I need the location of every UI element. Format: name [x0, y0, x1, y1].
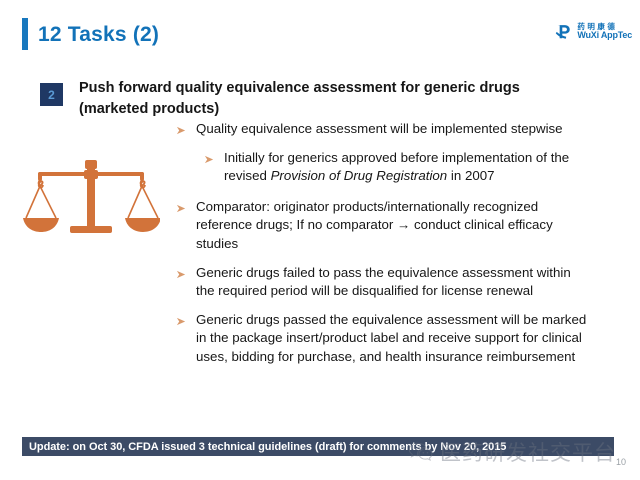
wuxi-apptec-logo: 药明康德 WuXi AppTec: [555, 22, 632, 41]
list-item: Generic drugs failed to pass the equival…: [176, 264, 592, 301]
arrow-bullet-icon: [204, 154, 217, 165]
list-item-label: Comparator: originator products/internat…: [196, 198, 592, 254]
page-title: 12 Tasks (2): [22, 18, 159, 50]
arrow-bullet-icon: [176, 269, 189, 280]
title-accent-bar: [22, 18, 28, 50]
list-item-label: Quality equivalence assessment will be i…: [196, 120, 563, 139]
bullet-list: Quality equivalence assessment will be i…: [176, 120, 592, 367]
list-item: Generic drugs passed the equivalence ass…: [176, 311, 592, 367]
list-item-label: Generic drugs failed to pass the equival…: [196, 264, 592, 301]
arrow-bullet-icon: [176, 316, 189, 327]
arrow-bullet-icon: [176, 125, 189, 136]
balance-scale-image: [22, 152, 160, 244]
title-label: 12 Tasks (2): [38, 24, 159, 45]
update-banner: Update: on Oct 30, CFDA issued 3 technic…: [22, 437, 614, 456]
update-banner-label: Update: on Oct 30, CFDA issued 3 technic…: [22, 441, 506, 453]
page-number: 10: [616, 457, 626, 467]
list-item: Initially for generics approved before i…: [204, 149, 592, 186]
sub-bullet-text-italic: Provision of Drug Registration: [271, 168, 448, 183]
sub-bullet-text-after: in 2007: [447, 168, 494, 183]
list-item: Comparator: originator products/internat…: [176, 198, 592, 254]
wuxi-logo-text: 药明康德 WuXi AppTec: [577, 23, 632, 41]
wuxi-logo-mark-icon: [555, 22, 574, 41]
list-item-label: Generic drugs passed the equivalence ass…: [196, 311, 592, 367]
subheading-label: Push forward quality equivalence assessm…: [79, 78, 557, 119]
wuxi-logo-english: WuXi AppTec: [577, 31, 632, 40]
subheading-block: 2 Push forward quality equivalence asses…: [40, 78, 557, 119]
list-item: Quality equivalence assessment will be i…: [176, 120, 592, 139]
arrow-bullet-icon: [176, 203, 189, 214]
wuxi-logo-chinese: 药明康德: [577, 23, 632, 31]
slide-canvas: 12 Tasks (2) 药明康德 WuXi AppTec 2 Push for…: [0, 0, 640, 480]
list-item-label: Initially for generics approved before i…: [224, 149, 592, 186]
task-number-badge: 2: [40, 83, 63, 106]
